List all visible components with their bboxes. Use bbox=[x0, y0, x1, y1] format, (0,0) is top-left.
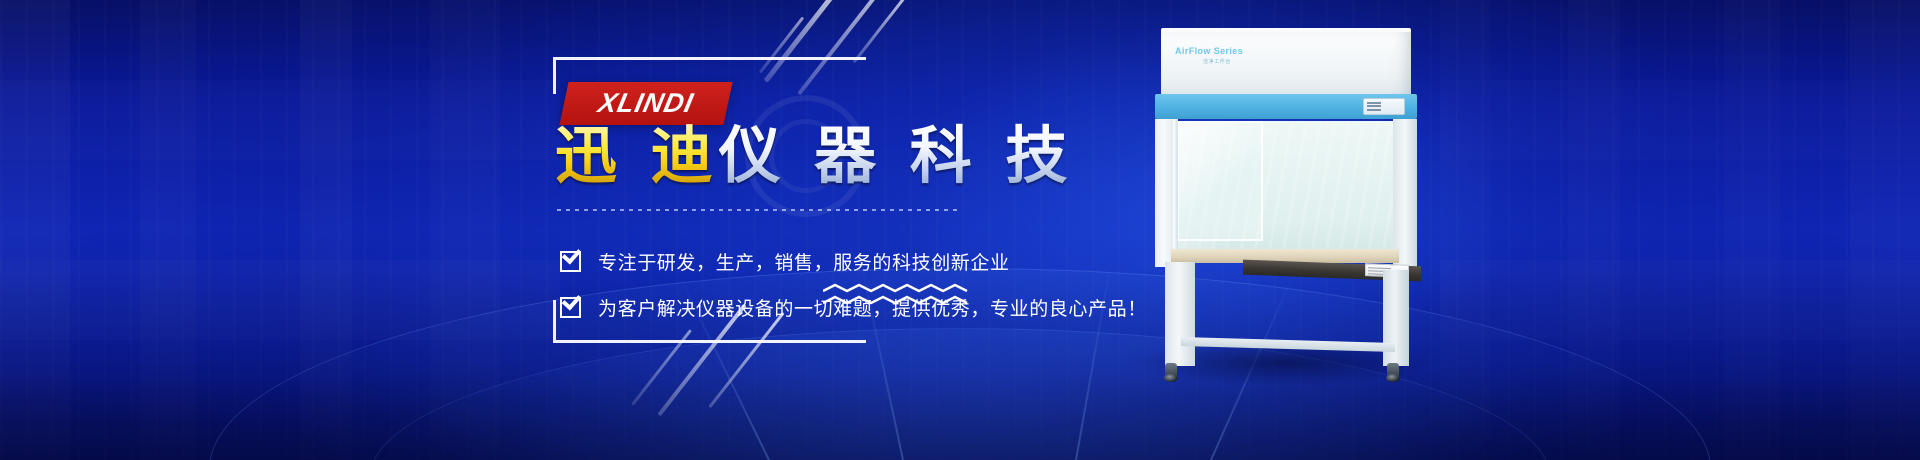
product-caster-right bbox=[1387, 363, 1399, 379]
title-divider bbox=[557, 209, 962, 211]
page-title: 迅 迪仪 器 科 技 bbox=[555, 125, 1073, 187]
control-panel-keys bbox=[1384, 106, 1401, 108]
product-glass-sash bbox=[1177, 121, 1263, 241]
product-glass-edge bbox=[1173, 119, 1178, 259]
product-image-laminar-flow-clean-bench: AirFlow Series 洁净工作台 bbox=[1125, 18, 1445, 390]
list-item-label: 为客户解决仪器设备的一切难题，提供优秀，专业的良心产品！ bbox=[598, 294, 1147, 321]
check-icon bbox=[560, 251, 581, 272]
product-side-right bbox=[1393, 119, 1417, 267]
product-caster-left bbox=[1165, 363, 1177, 379]
page-title-silver-part: 仪 器 科 技 bbox=[719, 119, 1074, 192]
list-item-label: 专注于研发，生产，销售，服务的科技创新企业 bbox=[598, 248, 1010, 275]
check-icon bbox=[560, 297, 581, 318]
product-hood bbox=[1161, 32, 1411, 94]
feature-list: 专注于研发，生产，销售，服务的科技创新企业 为客户解决仪器设备的一切难题，提供优… bbox=[560, 244, 1147, 336]
promo-banner: XLINDI 迅 迪仪 器 科 技 专注于研发，生产，销售，服务的科技创新企业 … bbox=[0, 0, 1920, 460]
list-item: 为客户解决仪器设备的一切难题，提供优秀，专业的良心产品！ bbox=[560, 290, 1147, 324]
control-panel-readout bbox=[1367, 101, 1381, 112]
product-leg-left bbox=[1165, 262, 1195, 366]
list-item: 专注于研发，生产，销售，服务的科技创新企业 bbox=[560, 244, 1147, 278]
product-brand-subtext: 洁净工作台 bbox=[1203, 58, 1231, 65]
control-panel-icon bbox=[1363, 98, 1405, 115]
product-brand-text: AirFlow Series bbox=[1175, 46, 1243, 56]
page-title-gold-part: 迅 迪 bbox=[555, 119, 719, 192]
